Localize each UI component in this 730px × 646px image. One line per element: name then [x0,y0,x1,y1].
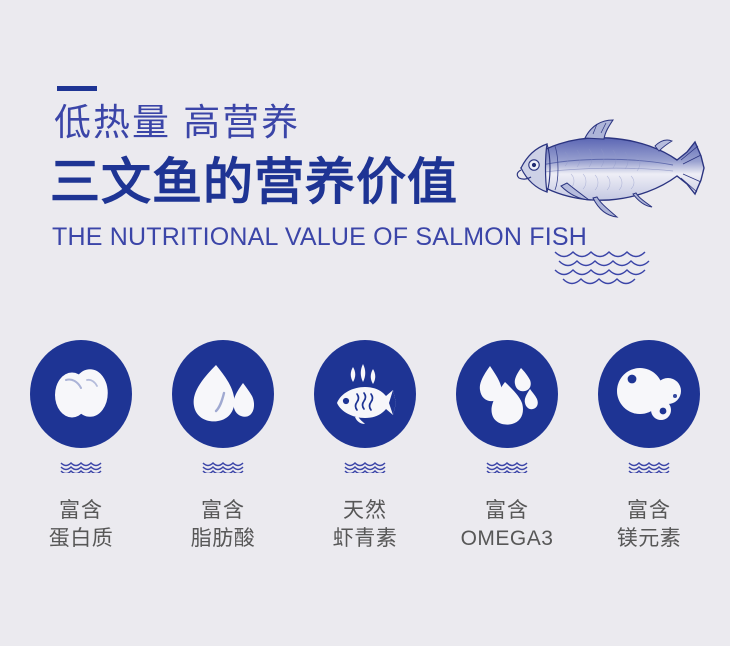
feature-icon-disc [598,340,700,448]
two-eggs-icon [46,364,116,424]
kicker-text: 低热量 高营养 [54,100,300,146]
infographic-page: 低热量 高营养 三文鱼的营养价值 THE NUTRITIONAL VALUE O… [0,0,730,646]
feature-item-fatty-acids[interactable]: 富含 脂肪酸 [164,340,282,600]
feature-caption-line2: 虾青素 [333,525,398,553]
wave-divider-icon [202,460,244,473]
fish-icon [329,363,401,425]
feature-icon-disc [172,340,274,448]
salmon-fish-engraving-icon [505,112,720,247]
feature-caption: 富含 镁元素 [617,497,682,553]
feature-caption-line2: OMEGA3 [461,525,554,553]
feature-icon-disc [456,340,558,448]
feature-item-astaxanthin[interactable]: 天然 虾青素 [306,340,424,600]
wave-divider-icon [486,460,528,473]
wave-divider-icon [628,460,670,473]
feature-caption-line1: 天然 [333,497,398,525]
feature-caption: 天然 虾青素 [333,497,398,553]
feature-caption: 富含 蛋白质 [49,497,114,553]
molecule-icon [614,365,684,423]
feature-list: 富含 蛋白质 富含 脂肪酸 [0,340,730,600]
feature-item-magnesium[interactable]: 富含 镁元素 [590,340,708,600]
feature-caption-line2: 蛋白质 [49,525,114,553]
two-droplets-icon [188,363,258,425]
feature-caption-line1: 富含 [617,497,682,525]
page-title: 三文鱼的营养价值 [50,152,458,212]
feature-caption-line2: 镁元素 [617,525,682,553]
wave-divider-icon [60,460,102,473]
feature-caption-line1: 富含 [191,497,256,525]
feature-item-omega3[interactable]: 富含 OMEGA3 [448,340,566,600]
header-section: 低热量 高营养 三文鱼的营养价值 THE NUTRITIONAL VALUE O… [0,0,730,300]
feature-caption-line1: 富含 [461,497,554,525]
salmon-fish-illustration [505,112,720,247]
accent-dash [57,86,97,91]
water-waves-icon [505,246,720,286]
four-droplets-icon [474,362,540,426]
feature-icon-disc [314,340,416,448]
feature-caption-line1: 富含 [49,497,114,525]
feature-caption: 富含 脂肪酸 [191,497,256,553]
feature-caption-line2: 脂肪酸 [191,525,256,553]
feature-item-protein[interactable]: 富含 蛋白质 [22,340,140,600]
wave-divider-icon [344,460,386,473]
feature-caption: 富含 OMEGA3 [461,497,554,553]
feature-icon-disc [30,340,132,448]
